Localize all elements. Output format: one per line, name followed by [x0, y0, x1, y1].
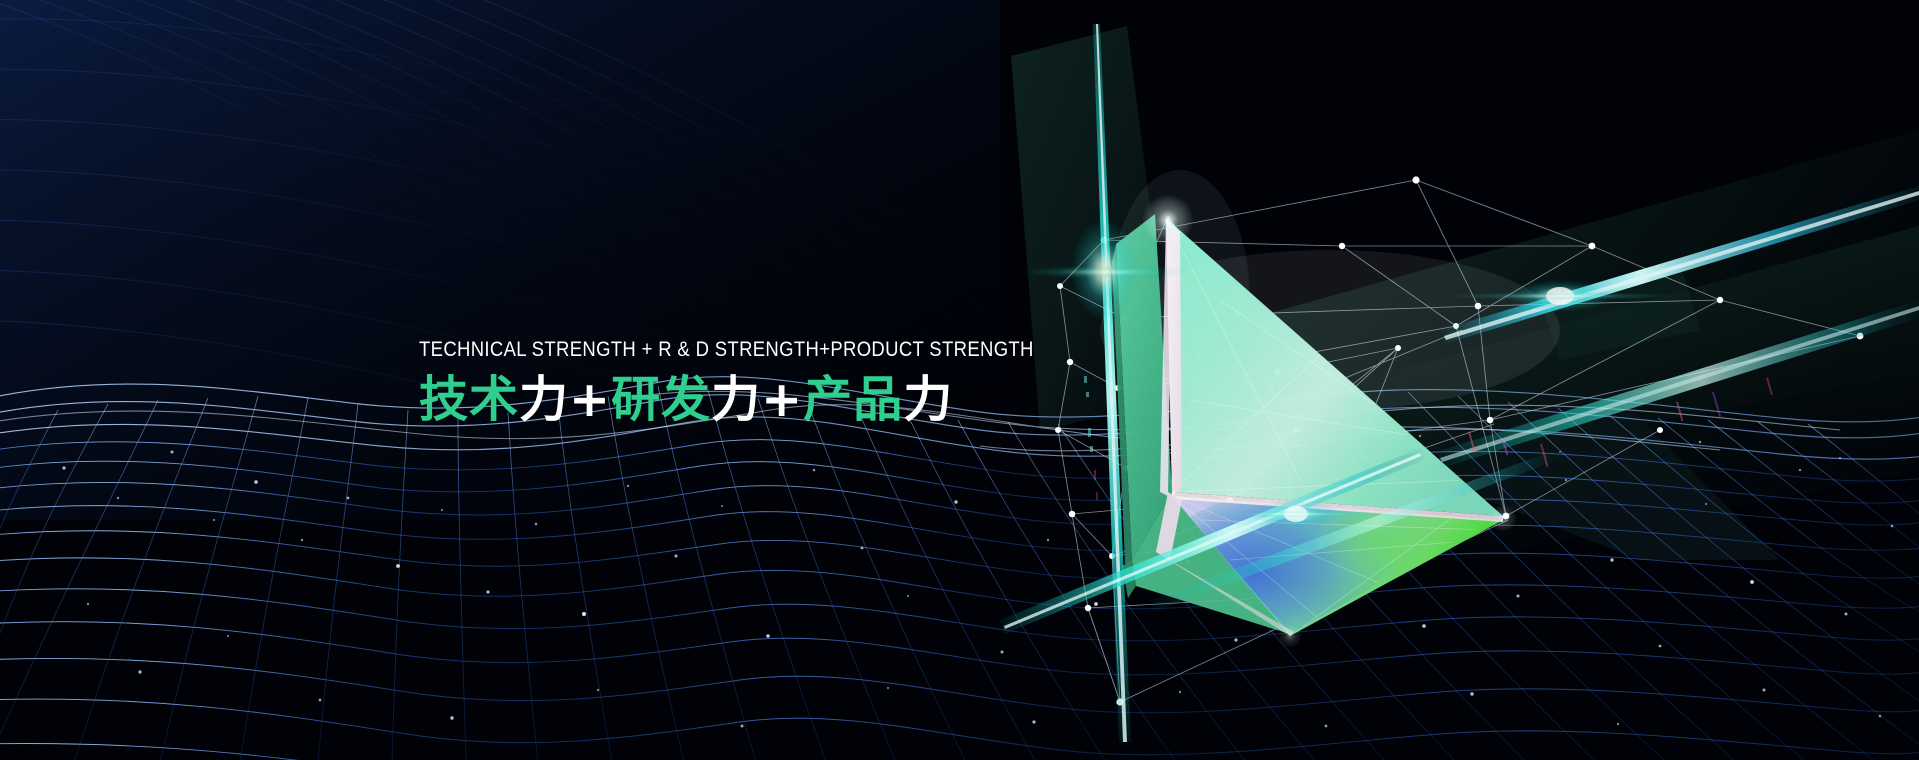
- headline-seg-1: 技术: [419, 371, 519, 428]
- headline-seg-4: 研发: [611, 371, 711, 428]
- hero-banner: TECHNICAL STRENGTH + R & D STRENGTH+PROD…: [0, 0, 1919, 760]
- headline-seg-7: 产品: [803, 371, 903, 428]
- headline-seg-6: +: [761, 371, 803, 428]
- headline-seg-8: 力: [903, 371, 953, 428]
- headline-seg-5: 力: [711, 371, 761, 428]
- headline-seg-3: +: [569, 371, 611, 428]
- headline-seg-2: 力: [519, 371, 569, 428]
- eyebrow-text: TECHNICAL STRENGTH + R & D STRENGTH+PROD…: [419, 336, 1034, 362]
- headline: 技术力+研发力+产品力: [419, 371, 1134, 429]
- hero-copy: TECHNICAL STRENGTH + R & D STRENGTH+PROD…: [419, 336, 1134, 429]
